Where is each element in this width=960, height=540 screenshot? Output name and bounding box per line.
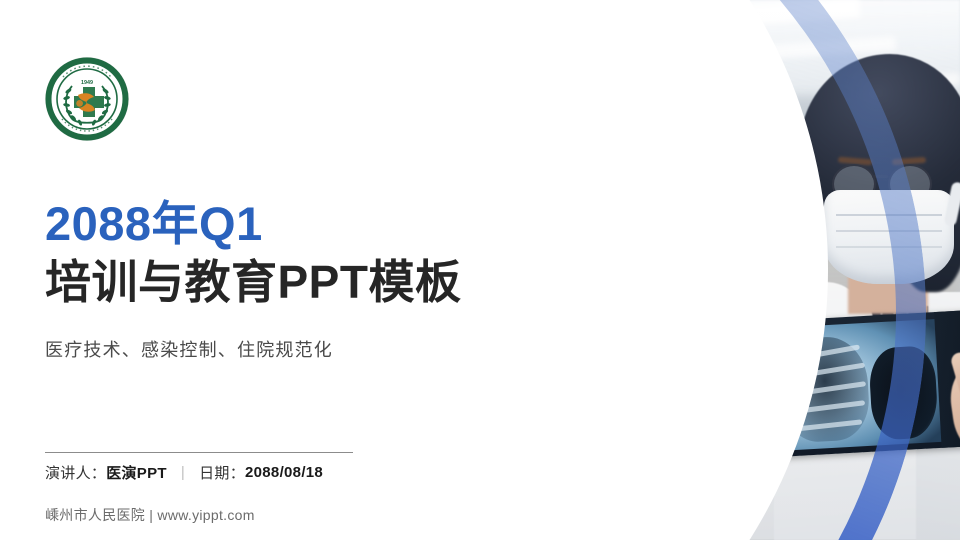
meta-separator: | — [181, 464, 185, 481]
subtitle: 医疗技术、感染控制、住院规范化 — [45, 336, 333, 362]
footer-divider — [45, 452, 353, 453]
speaker-value: 医演PPT — [106, 462, 167, 483]
page-title: 2088年Q1 培训与教育PPT模板 — [45, 196, 515, 310]
date-value: 2088/08/18 — [245, 464, 323, 481]
presenter-meta: 演讲人： 医演PPT | 日期： 2088/08/18 — [45, 462, 323, 483]
date-label: 日期： — [199, 462, 245, 483]
hospital-logo-icon: 1949 — [45, 57, 129, 141]
female-doctor-glasses-bridge — [872, 175, 888, 178]
slide-content: 1949 2088年Q1 培训与教育PPT模板 医疗技术、感染控制、住院规范化 … — [0, 0, 420, 540]
title-year: 2088年Q1 — [45, 196, 515, 252]
organization-line: 嵊州市人民医院 | www.yippt.com — [45, 505, 255, 525]
title-main: 培训与教育PPT模板 — [45, 254, 515, 310]
presentation-slide: 1949 2088年Q1 培训与教育PPT模板 医疗技术、感染控制、住院规范化 … — [0, 0, 960, 540]
logo-year-text: 1949 — [81, 80, 93, 86]
female-doctor-face-mask — [824, 190, 954, 284]
speaker-label: 演讲人： — [45, 462, 106, 483]
